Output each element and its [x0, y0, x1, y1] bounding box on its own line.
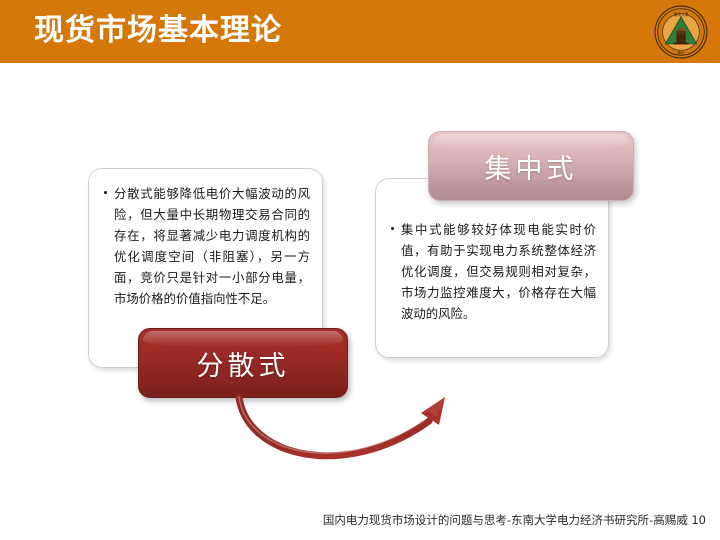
- page-title: 现货市场基本理论: [34, 12, 282, 50]
- list-item: 集中式能够较好体现电能实时价值，有助于实现电力系统整体经济优化调度，但交易规则相…: [390, 219, 596, 324]
- centralized-label-plate: 集中式: [428, 131, 634, 201]
- slide-header-bar: 现货市场基本理论 東南大學 · 南京 ·: [0, 0, 720, 63]
- distributed-bullet-list: 分散式能够降低电价大幅波动的风险，但大量中长期物理交易合同的存在，将显著减少电力…: [89, 169, 322, 309]
- centralized-label-text: 集中式: [485, 147, 578, 186]
- svg-text:· 南京 ·: · 南京 ·: [676, 50, 687, 55]
- distributed-label-text: 分散式: [197, 344, 290, 383]
- slide-footer-text: 国内电力现货市场设计的问题与思考-东南大学电力经济书研究所-高赐威 10: [0, 512, 706, 528]
- list-item: 分散式能够降低电价大幅波动的风险，但大量中长期物理交易合同的存在，将显著减少电力…: [103, 183, 310, 309]
- curved-arrow-icon: [205, 385, 465, 490]
- svg-text:東南大學: 東南大學: [673, 12, 688, 17]
- university-logo-icon: 東南大學 · 南京 ·: [654, 5, 708, 59]
- centralized-description-box: 集中式能够较好体现电能实时价值，有助于实现电力系统整体经济优化调度，但交易规则相…: [375, 178, 609, 358]
